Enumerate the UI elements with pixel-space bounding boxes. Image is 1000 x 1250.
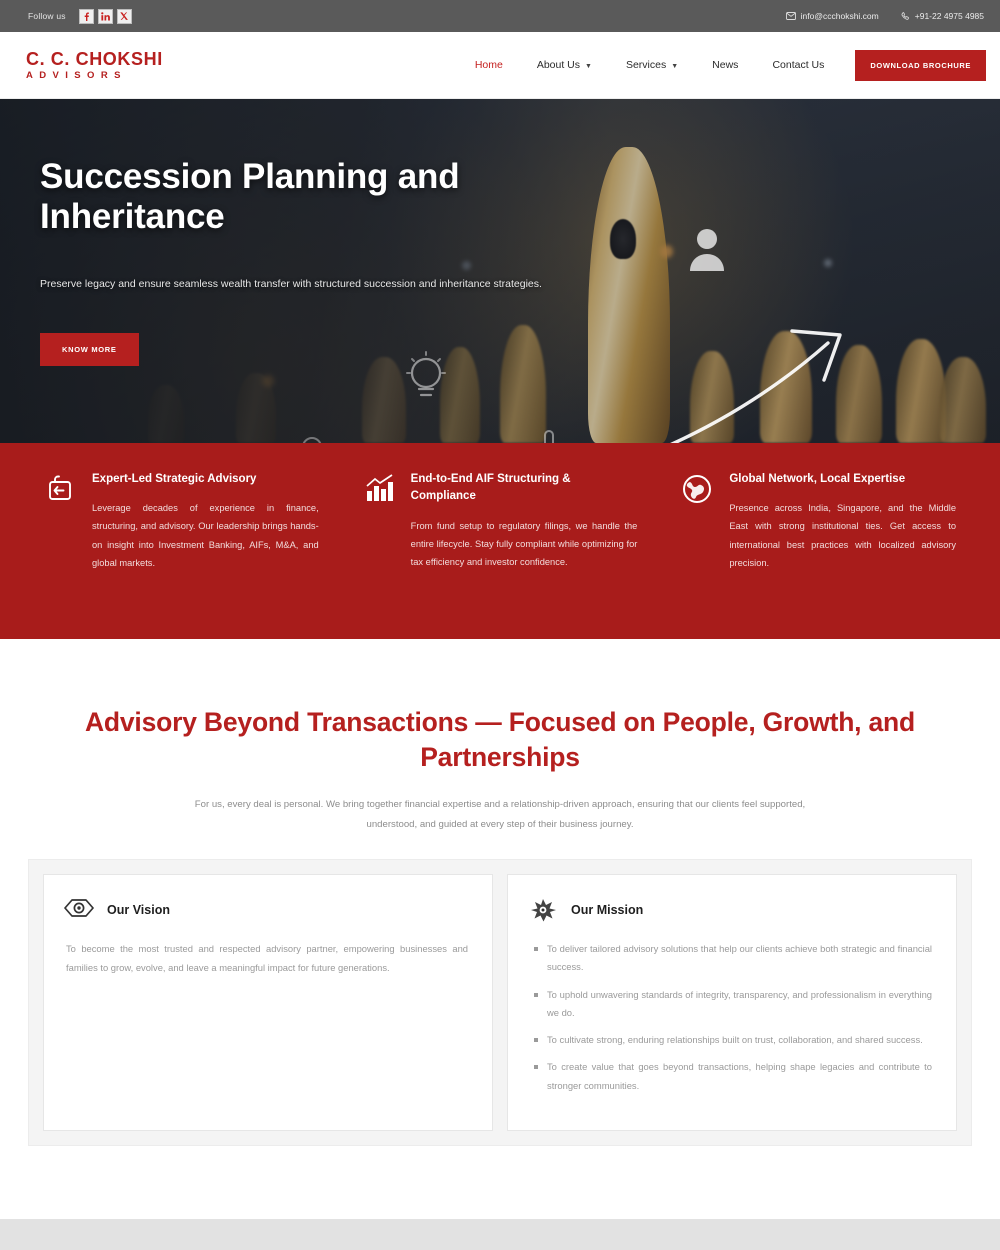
- feature-title: Expert-Led Strategic Advisory: [92, 471, 319, 488]
- email-link[interactable]: info@ccchokshi.com: [786, 11, 879, 21]
- feature-body: Expert-Led Strategic Advisory Leverage d…: [92, 471, 319, 599]
- feature-body: End-to-End AIF Structuring & Compliance …: [411, 471, 638, 599]
- vision-mission-panel: Our Vision To become the most trusted an…: [28, 859, 972, 1146]
- nav-label: News: [712, 59, 738, 71]
- top-utility-bar: Follow us info@ccchokshi.com +91-2: [0, 0, 1000, 32]
- phone-link[interactable]: +91-22 4975 4985: [901, 11, 984, 21]
- gear-icon: [296, 431, 336, 443]
- envelope-icon: [786, 12, 796, 20]
- hero-title: Succession Planning and Inheritance: [40, 157, 565, 236]
- feature-highlights-strip: Expert-Led Strategic Advisory Leverage d…: [0, 443, 1000, 639]
- nav-item-contact-us[interactable]: Contact Us: [755, 59, 841, 71]
- email-text: info@ccchokshi.com: [801, 11, 879, 21]
- feature-text: Presence across India, Singapore, and th…: [729, 499, 956, 572]
- site-logo[interactable]: C. C. CHOKSHI ADVISORS: [26, 50, 163, 81]
- logo-secondary-text: ADVISORS: [26, 71, 163, 81]
- phone-icon: [901, 12, 910, 21]
- target-icon: [528, 897, 558, 923]
- vision-card-title: Our Vision: [107, 903, 170, 917]
- nav-label: Contact Us: [772, 59, 824, 71]
- section-title: Advisory Beyond Transactions — Focused o…: [0, 705, 1000, 775]
- feature-title: End-to-End AIF Structuring & Compliance: [411, 471, 638, 506]
- logo-primary-text: C. C. CHOKSHI: [26, 50, 163, 68]
- list-item: To create value that goes beyond transac…: [534, 1058, 932, 1095]
- footer-strip: [0, 1219, 1000, 1250]
- vision-card: Our Vision To become the most trusted an…: [43, 874, 493, 1131]
- nav-item-news[interactable]: News: [695, 59, 755, 71]
- facebook-icon[interactable]: [79, 9, 94, 24]
- hero-banner: Succession Planning and Inheritance Pres…: [0, 99, 1000, 443]
- feature-card-aif-structuring-compliance: End-to-End AIF Structuring & Compliance …: [341, 471, 660, 599]
- list-item: To deliver tailored advisory solutions t…: [534, 940, 932, 977]
- eye-icon: [64, 897, 94, 923]
- linkedin-icon[interactable]: [98, 9, 113, 24]
- nav-label: Services: [626, 59, 666, 71]
- topbar-left-group: Follow us: [28, 9, 132, 24]
- page-root: Follow us info@ccchokshi.com +91-2: [0, 0, 1000, 1250]
- person-icon: [688, 227, 726, 271]
- list-item: To cultivate strong, enduring relationsh…: [534, 1031, 932, 1049]
- download-brochure-button[interactable]: DOWNLOAD BROCHURE: [855, 50, 986, 81]
- topbar-contact-group: info@ccchokshi.com +91-22 4975 4985: [786, 11, 984, 21]
- handshake-icon: [44, 471, 78, 599]
- section-subtitle: For us, every deal is personal. We bring…: [164, 795, 836, 833]
- nav-label: Home: [475, 59, 503, 71]
- phone-text: +91-22 4975 4985: [915, 11, 984, 21]
- mission-list: To deliver tailored advisory solutions t…: [528, 940, 932, 1095]
- social-links: [79, 9, 132, 24]
- feature-text: Leverage decades of experience in financ…: [92, 499, 319, 572]
- globe-icon: [681, 471, 715, 599]
- mission-card-header: Our Mission: [528, 897, 932, 923]
- nav-item-home[interactable]: Home: [458, 59, 520, 71]
- growth-chart-icon: [363, 471, 397, 599]
- chevron-down-icon: ▼: [585, 63, 592, 70]
- feature-card-expert-led-strategic-advisory: Expert-Led Strategic Advisory Leverage d…: [22, 471, 341, 599]
- site-header: C. C. CHOKSHI ADVISORS Home About Us ▼ S…: [0, 32, 1000, 99]
- feature-text: From fund setup to regulatory filings, w…: [411, 517, 638, 571]
- vision-card-header: Our Vision: [64, 897, 468, 923]
- mission-card: Our Mission To deliver tailored advisory…: [507, 874, 957, 1131]
- vision-card-text: To become the most trusted and respected…: [64, 940, 468, 978]
- twitter-icon[interactable]: [117, 9, 132, 24]
- nav-item-services[interactable]: Services ▼: [609, 59, 695, 71]
- hero-subtitle: Preserve legacy and ensure seamless weal…: [40, 275, 565, 293]
- nav-item-about-us[interactable]: About Us ▼: [520, 59, 609, 71]
- about-section: Advisory Beyond Transactions — Focused o…: [0, 639, 1000, 1146]
- feature-card-global-network-local-expertise: Global Network, Local Expertise Presence…: [659, 471, 978, 599]
- mission-card-title: Our Mission: [571, 903, 643, 917]
- follow-us-label: Follow us: [28, 11, 66, 21]
- hero-content: Succession Planning and Inheritance Pres…: [0, 99, 565, 366]
- nav-label: About Us: [537, 59, 580, 71]
- chevron-down-icon: ▼: [671, 63, 678, 70]
- feature-title: Global Network, Local Expertise: [729, 471, 956, 488]
- feature-body: Global Network, Local Expertise Presence…: [729, 471, 956, 599]
- main-navigation: Home About Us ▼ Services ▼ News Contact …: [458, 50, 986, 81]
- list-item: To uphold unwavering standards of integr…: [534, 986, 932, 1023]
- know-more-button[interactable]: KNOW MORE: [40, 333, 139, 366]
